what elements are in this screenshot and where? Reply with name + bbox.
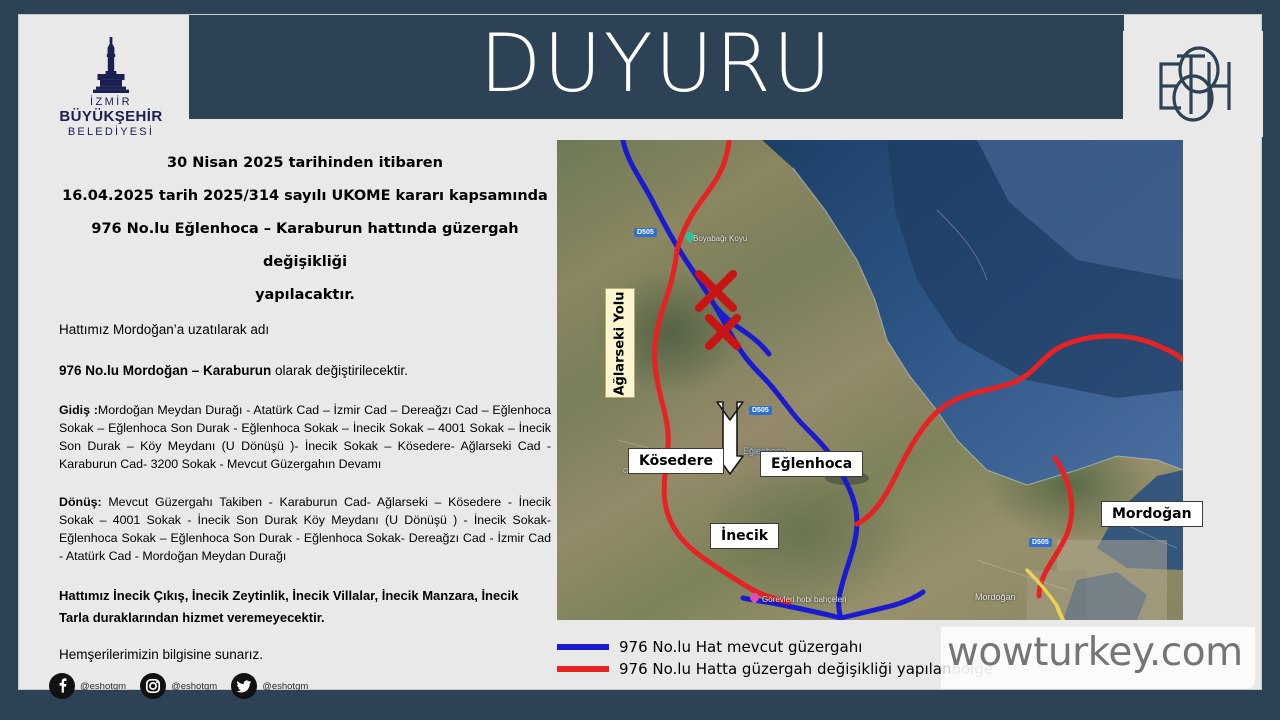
map-poi-boyabagi-koyu: Boyabağı Koyu xyxy=(693,234,747,243)
map-label-mordogan-box[interactable]: Mordoğan xyxy=(1101,501,1203,527)
instagram-handle: @eshotgm xyxy=(171,681,217,692)
map-label-aglarseki-yolu-text: Ağlarseki Yolu xyxy=(613,291,628,395)
facebook-handle: @eshotgm xyxy=(80,681,126,692)
eshot-monogram-icon xyxy=(1147,36,1239,132)
eshot-logo xyxy=(1123,31,1263,137)
map-poi-gorevleri-hobi: Görevleri hobi bahçeleri xyxy=(762,595,847,604)
outbound-route-text: Mordoğan Meydan Durağı - Atatürk Cad – İ… xyxy=(59,403,551,471)
announcement-text-column: 30 Nisan 2025 tarihinden itibaren 16.04.… xyxy=(41,141,561,689)
instagram-icon[interactable] xyxy=(140,673,166,699)
social-link-facebook[interactable]: @eshotgm xyxy=(49,673,126,699)
header-band: DUYURU xyxy=(189,15,1124,119)
map-label-aglarseki-yolu[interactable]: Ağlarseki Yolu xyxy=(605,288,635,398)
outbound-route-label: Gidiş : xyxy=(59,403,98,417)
izmir-logo-line3: BELEDİYESİ xyxy=(68,126,154,138)
route-map[interactable]: Boyabağı Koyu Ayı Balığı Koyu Görevleri … xyxy=(557,140,1183,620)
social-link-twitter[interactable]: @eshotgm xyxy=(231,673,308,699)
social-links-row: @eshotgm @eshotgm @eshotgm xyxy=(49,673,308,699)
map-sea-and-routes xyxy=(557,140,1183,620)
twitter-handle: @eshotgm xyxy=(262,681,308,692)
road-shield-d505-3: D505 xyxy=(1029,538,1052,547)
extension-line: Hattımız Mordoğan’a uzatılarak adı xyxy=(59,320,551,340)
road-shield-d505-2: D505 xyxy=(749,406,772,415)
izmir-logo-line1: İZMİR xyxy=(90,96,132,108)
izmir-clock-tower-icon xyxy=(88,35,134,95)
page-title: DUYURU xyxy=(189,15,1124,119)
izmir-municipality-logo: İZMİR BÜYÜKŞEHİR BELEDİYESİ xyxy=(41,31,181,137)
legend-text-existing: 976 No.lu Hat mevcut güzergahı xyxy=(619,638,862,656)
lead-line-3: 976 No.lu Eğlenhoca – Karaburun hattında… xyxy=(59,213,551,279)
map-poi-mordogan: Mordoğan xyxy=(975,592,1016,602)
closing-line: Hemşerilerimizin bilgisine sunarız. xyxy=(59,647,551,662)
twitter-icon[interactable] xyxy=(231,673,257,699)
rename-new-name: 976 No.lu Mordoğan – Karaburun xyxy=(59,363,271,378)
return-route: Dönüş: Mevcut Güzergahı Takiben - Karabu… xyxy=(59,493,551,565)
map-label-eglenhoca-box[interactable]: Eğlenhoca xyxy=(760,451,863,477)
map-label-inecik[interactable]: İnecik xyxy=(710,523,779,549)
izmir-logo-line2: BÜYÜKŞEHİR xyxy=(59,108,162,125)
social-link-instagram[interactable]: @eshotgm xyxy=(140,673,217,699)
return-route-text: Mevcut Güzergahı Takiben - Karaburun Cad… xyxy=(59,495,551,563)
suspended-stops-warning: Hattımız İnecik Çıkış, İnecik Zeytinlik,… xyxy=(59,585,551,629)
legend-swatch-existing xyxy=(557,644,609,650)
rename-line: 976 No.lu Mordoğan – Karaburun olarak de… xyxy=(59,361,551,381)
lead-line-2: 16.04.2025 tarih 2025/314 sayılı UKOME k… xyxy=(59,180,551,213)
map-label-kosedere-box[interactable]: Kösedere xyxy=(628,448,724,474)
legend-swatch-changed xyxy=(557,666,609,672)
outbound-route: Gidiş :Mordoğan Meydan Durağı - Atatürk … xyxy=(59,401,551,473)
lead-line-1: 30 Nisan 2025 tarihinden itibaren xyxy=(59,147,551,180)
rename-suffix: olarak değiştirilecektir. xyxy=(271,363,408,378)
lead-line-4: yapılacaktır. xyxy=(59,279,551,312)
facebook-icon[interactable] xyxy=(49,673,75,699)
legend-text-changed: 976 No.lu Hatta güzergah değişikliği yap… xyxy=(619,660,951,678)
return-route-label: Dönüş: xyxy=(59,495,102,509)
road-shield-d505-1: D505 xyxy=(634,228,657,237)
watermark-text: wowturkey.com xyxy=(947,630,1243,675)
